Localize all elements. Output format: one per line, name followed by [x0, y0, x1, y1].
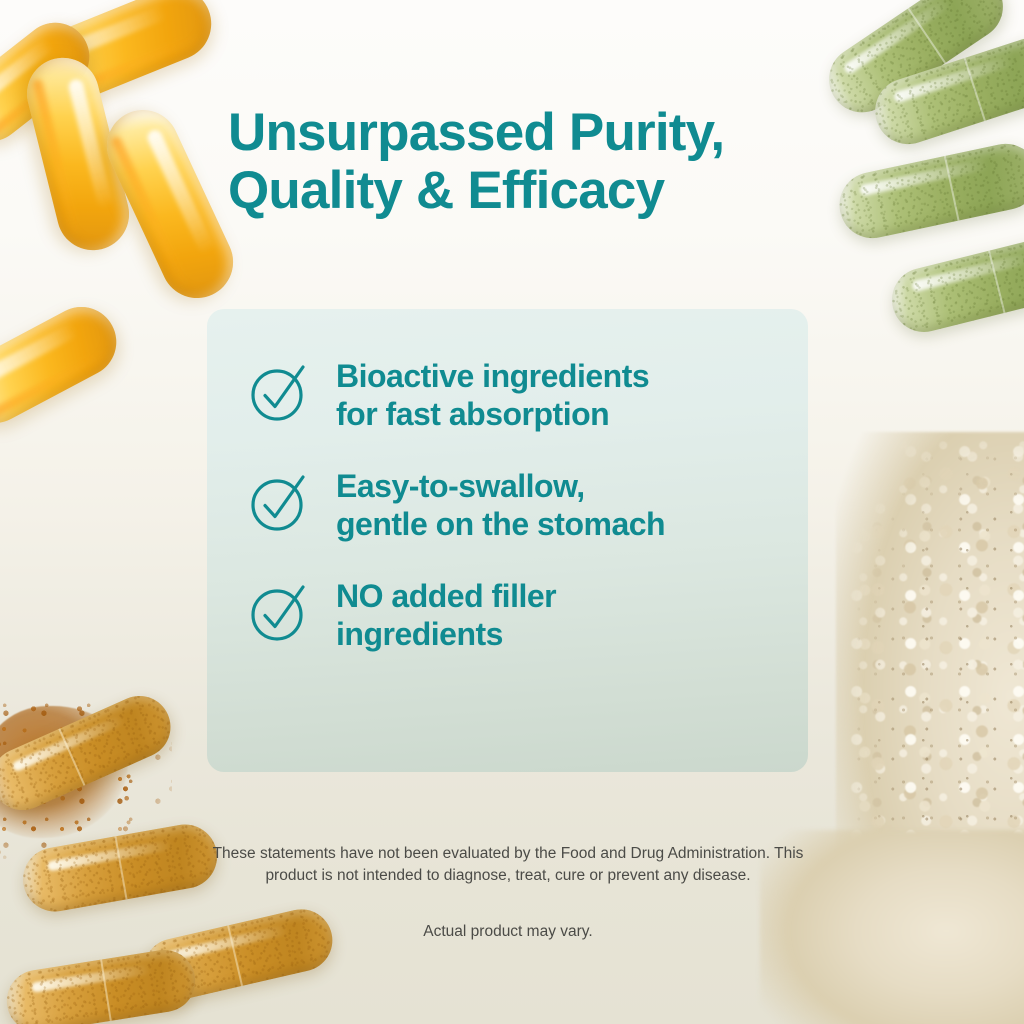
fda-statement: These statements have not been evaluated… — [210, 843, 806, 887]
list-item-label: Bioactive ingredients for fast absorptio… — [336, 357, 649, 434]
content-layer: Unsurpassed Purity,Quality & Efficacy Bi… — [0, 0, 1024, 1024]
circle-check-icon — [247, 471, 311, 540]
circle-check-icon — [247, 581, 311, 650]
list-item-label: NO added filler ingredients — [336, 577, 556, 654]
benefits-card: Bioactive ingredients for fast absorptio… — [207, 309, 808, 772]
headline-line-2: Quality & Efficacy — [228, 161, 664, 220]
disclaimer: These statements have not been evaluated… — [210, 843, 806, 943]
benefits-list: Bioactive ingredients for fast absorptio… — [247, 357, 780, 653]
list-item-label: Easy-to-swallow, gentle on the stomach — [336, 467, 665, 544]
page-title: Unsurpassed Purity,Quality & Efficacy — [228, 104, 828, 221]
list-item: Bioactive ingredients for fast absorptio… — [247, 357, 780, 434]
headline-line-1: Unsurpassed Purity, — [228, 103, 724, 162]
product-variation-note: Actual product may vary. — [210, 921, 806, 943]
promo-graphic: Unsurpassed Purity,Quality & Efficacy Bi… — [0, 0, 1024, 1024]
circle-check-icon — [247, 361, 311, 430]
list-item: Easy-to-swallow, gentle on the stomach — [247, 467, 780, 544]
list-item: NO added filler ingredients — [247, 577, 780, 654]
